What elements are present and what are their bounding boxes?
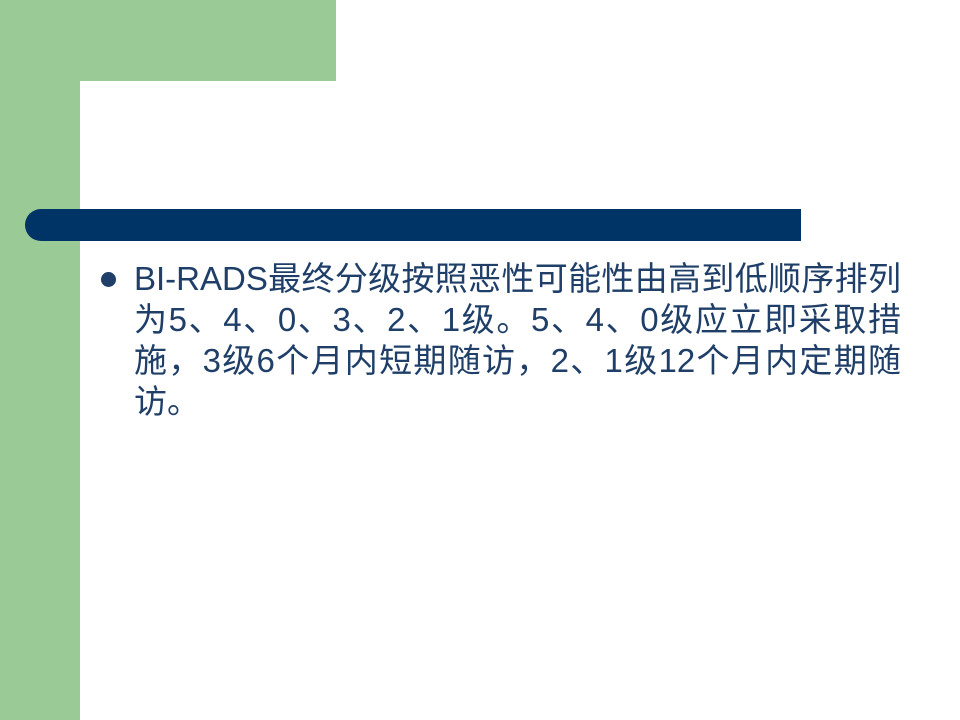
bullet-point-icon [101,272,116,287]
slide-canvas: BI-RADS最终分级按照恶性可能性由高到低顺序排列为5、4、0、3、2、1级。… [0,0,960,720]
body-content: BI-RADS最终分级按照恶性可能性由高到低顺序排列为5、4、0、3、2、1级。… [101,258,901,422]
green-side-panel [0,0,80,720]
navy-accent-bar [25,209,801,241]
bullet-item-text: BI-RADS最终分级按照恶性可能性由高到低顺序排列为5、4、0、3、2、1级。… [134,258,901,422]
bullet-list-item: BI-RADS最终分级按照恶性可能性由高到低顺序排列为5、4、0、3、2、1级。… [101,258,901,422]
green-top-block [0,0,336,81]
